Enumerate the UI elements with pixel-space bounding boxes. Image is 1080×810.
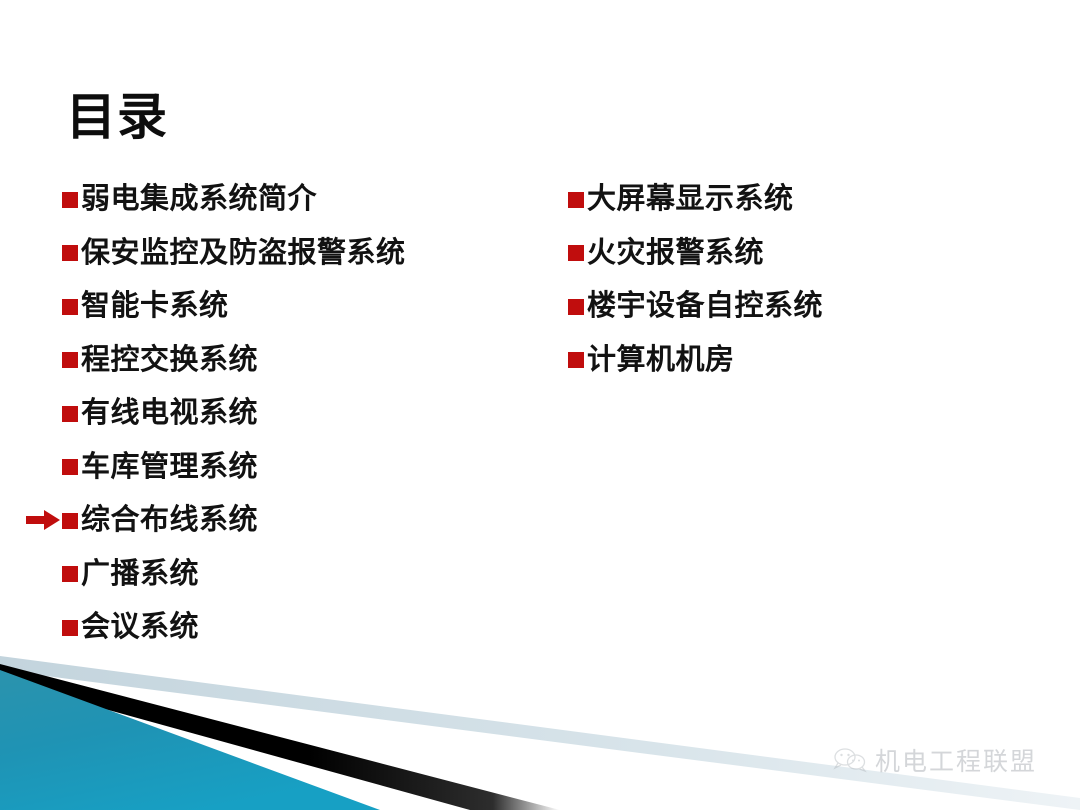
toc-item-label: 广播系统: [81, 559, 199, 588]
bullet-square-icon: [568, 192, 584, 208]
bullet-square-icon: [62, 513, 78, 529]
bullet-square-icon: [568, 352, 584, 368]
bullet-square-icon: [568, 299, 584, 315]
toc-item-label: 程控交换系统: [81, 345, 258, 374]
toc-item-label: 会议系统: [81, 612, 199, 641]
toc-item-label: 大屏幕显示系统: [587, 184, 794, 213]
toc-item[interactable]: 会议系统: [62, 600, 532, 654]
toc-item[interactable]: 智能卡系统: [62, 279, 532, 333]
bullet-square-icon: [568, 245, 584, 261]
bullet-square-icon: [62, 299, 78, 315]
toc-item-label: 计算机机房: [587, 345, 735, 374]
toc-item[interactable]: 综合布线系统: [62, 493, 532, 547]
presentation-slide: 目录 弱电集成系统简介保安监控及防盗报警系统智能卡系统程控交换系统有线电视系统车…: [0, 0, 1080, 810]
bullet-square-icon: [62, 566, 78, 582]
toc-item-label: 有线电视系统: [81, 398, 258, 427]
decoration-black-band: [0, 664, 560, 810]
toc-item-label: 保安监控及防盗报警系统: [81, 238, 406, 267]
decoration-teal-wedge: [0, 670, 380, 810]
watermark: 机电工程联盟: [833, 742, 1037, 778]
toc-item-label: 车库管理系统: [81, 452, 258, 481]
toc-item[interactable]: 保安监控及防盗报警系统: [62, 226, 532, 280]
bottom-decoration-graphic: [0, 650, 1080, 810]
bullet-square-icon: [62, 406, 78, 422]
toc-item-label: 火灾报警系统: [587, 238, 764, 267]
toc-item-label: 综合布线系统: [81, 505, 258, 534]
bullet-square-icon: [62, 459, 78, 475]
toc-item[interactable]: 广播系统: [62, 547, 532, 601]
watermark-label: 机电工程联盟: [875, 742, 1037, 778]
wechat-icon: [833, 747, 867, 773]
toc-item[interactable]: 计算机机房: [568, 333, 1028, 387]
toc-item[interactable]: 火灾报警系统: [568, 226, 1028, 280]
toc-column-right: 大屏幕显示系统火灾报警系统楼宇设备自控系统计算机机房: [568, 172, 1028, 386]
toc-item[interactable]: 大屏幕显示系统: [568, 172, 1028, 226]
bullet-square-icon: [62, 620, 78, 636]
toc-item[interactable]: 程控交换系统: [62, 333, 532, 387]
toc-column-left: 弱电集成系统简介保安监控及防盗报警系统智能卡系统程控交换系统有线电视系统车库管理…: [62, 172, 532, 654]
toc-item-label: 弱电集成系统简介: [81, 184, 317, 213]
bullet-square-icon: [62, 352, 78, 368]
toc-item[interactable]: 有线电视系统: [62, 386, 532, 440]
toc-item-label: 楼宇设备自控系统: [587, 291, 823, 320]
toc-item[interactable]: 车库管理系统: [62, 440, 532, 494]
bullet-square-icon: [62, 192, 78, 208]
toc-item-label: 智能卡系统: [81, 291, 229, 320]
bullet-square-icon: [62, 245, 78, 261]
toc-item[interactable]: 楼宇设备自控系统: [568, 279, 1028, 333]
decoration-light-band: [0, 656, 1080, 810]
toc-item[interactable]: 弱电集成系统简介: [62, 172, 532, 226]
page-title: 目录: [66, 92, 168, 142]
current-item-arrow-icon: [26, 510, 60, 530]
